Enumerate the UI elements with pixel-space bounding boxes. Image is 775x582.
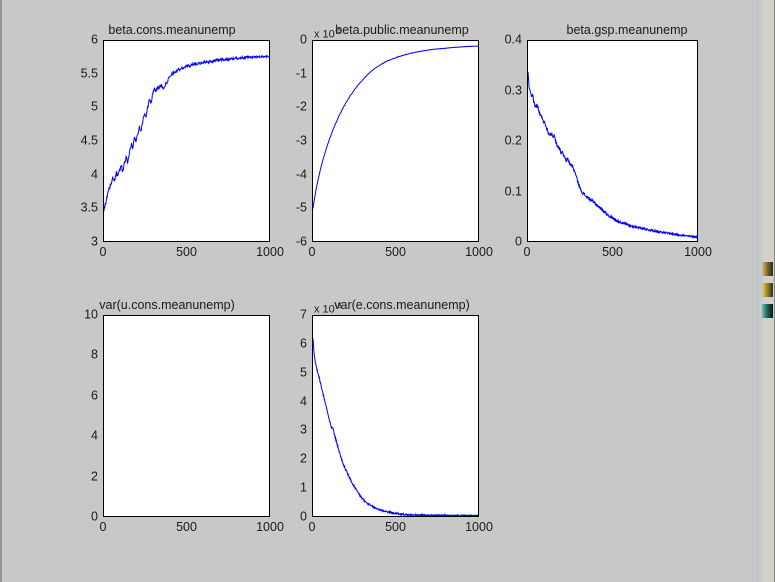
y-tick-label: -5 (272, 202, 307, 215)
y-tick-label: -4 (272, 168, 307, 181)
y-tick-label: 6 (42, 34, 98, 47)
x-tick-label: 500 (385, 246, 406, 259)
axes-area[interactable] (312, 315, 479, 517)
axes-area[interactable] (103, 40, 270, 242)
plot-line-var-u-cons (104, 316, 269, 516)
plot-line-beta-gsp (528, 41, 697, 241)
y-tick-label: 0 (272, 34, 307, 47)
x-tick-label: 500 (176, 246, 197, 259)
subplot-beta-cons-meanunemp: beta.cons.meanunemp 6 5.5 5 4.5 4 3.5 3 … (42, 20, 282, 270)
y-tick-label: 0 (42, 511, 98, 524)
y-tick-label: -1 (272, 67, 307, 80)
terminal-icon[interactable] (762, 304, 773, 318)
y-tick-label: 6 (42, 389, 98, 402)
x-tick-label: 500 (602, 246, 623, 259)
y-tick-label: 4 (272, 395, 307, 408)
y-tick-label: 5 (272, 366, 307, 379)
y-tick-label: 5.5 (42, 67, 98, 80)
subplot-var-e-cons-meanunemp: var(e.cons.meanunemp) x 10-3 7 6 5 4 3 2… (272, 295, 512, 545)
y-axis-exponent-label: x 10-5 (314, 25, 341, 41)
y-tick-label: 3 (42, 236, 98, 249)
plot-line-beta-public (313, 41, 478, 241)
y-tick-label: 2 (42, 470, 98, 483)
y-tick-label: 0.2 (497, 135, 522, 148)
exponent-power: -5 (335, 26, 342, 35)
x-tick-label: 1000 (465, 246, 493, 259)
y-tick-label: 3 (272, 424, 307, 437)
y-tick-label: 4.5 (42, 135, 98, 148)
exponent-mantissa: x 10 (314, 304, 335, 316)
y-tick-label: 0.3 (497, 84, 522, 97)
plot-line-var-e-cons (313, 316, 478, 516)
y-tick-label: 6 (272, 337, 307, 350)
x-tick-label: 0 (100, 521, 107, 534)
axes-area[interactable] (312, 40, 479, 242)
y-tick-label: -6 (272, 236, 307, 249)
x-tick-label: 500 (176, 521, 197, 534)
subplot-beta-public-meanunemp: beta.public.meanunemp x 10-5 0 -1 -2 -3 … (272, 20, 512, 270)
x-tick-label: 0 (524, 246, 531, 259)
y-tick-label: 1 (272, 482, 307, 495)
subplot-beta-gsp-meanunemp: beta.gsp.meanunemp 0.4 0.3 0.2 0.1 0 0 5… (497, 20, 737, 270)
y-tick-label: 0 (272, 511, 307, 524)
y-tick-label: 4 (42, 168, 98, 181)
axes-area[interactable] (103, 315, 270, 517)
background-window-strip[interactable] (757, 0, 775, 582)
y-tick-label: 10 (42, 309, 98, 322)
document-icon[interactable] (762, 283, 773, 297)
y-tick-label: 0.4 (497, 34, 522, 47)
subplot-var-u-cons-meanunemp: var(u.cons.meanunemp) 10 8 6 4 2 0 0 500… (42, 295, 282, 545)
y-tick-label: 8 (42, 349, 98, 362)
y-tick-label: 0.1 (497, 185, 522, 198)
y-tick-label: 4 (42, 430, 98, 443)
y-tick-label: -3 (272, 135, 307, 148)
x-tick-label: 0 (100, 246, 107, 259)
y-axis-exponent-label: x 10-3 (314, 300, 341, 316)
y-tick-label: 3.5 (42, 202, 98, 215)
x-tick-label: 500 (385, 521, 406, 534)
y-tick-label: 2 (272, 453, 307, 466)
matlab-figure-canvas: beta.cons.meanunemp 6 5.5 5 4.5 4 3.5 3 … (0, 0, 762, 582)
x-tick-label: 0 (309, 246, 316, 259)
x-tick-label: 1000 (465, 521, 493, 534)
exponent-mantissa: x 10 (314, 29, 335, 41)
y-tick-label: 5 (42, 101, 98, 114)
folder-icon[interactable] (762, 262, 773, 276)
exponent-power: -3 (335, 301, 342, 310)
y-tick-label: 7 (272, 309, 307, 322)
y-tick-label: -2 (272, 101, 307, 114)
y-tick-label: 0 (497, 236, 522, 249)
axes-area[interactable] (527, 40, 698, 242)
x-tick-label: 0 (309, 521, 316, 534)
plot-line-beta-cons (104, 41, 269, 241)
x-tick-label: 1000 (684, 246, 712, 259)
plot-title: beta.gsp.meanunemp (517, 23, 737, 37)
